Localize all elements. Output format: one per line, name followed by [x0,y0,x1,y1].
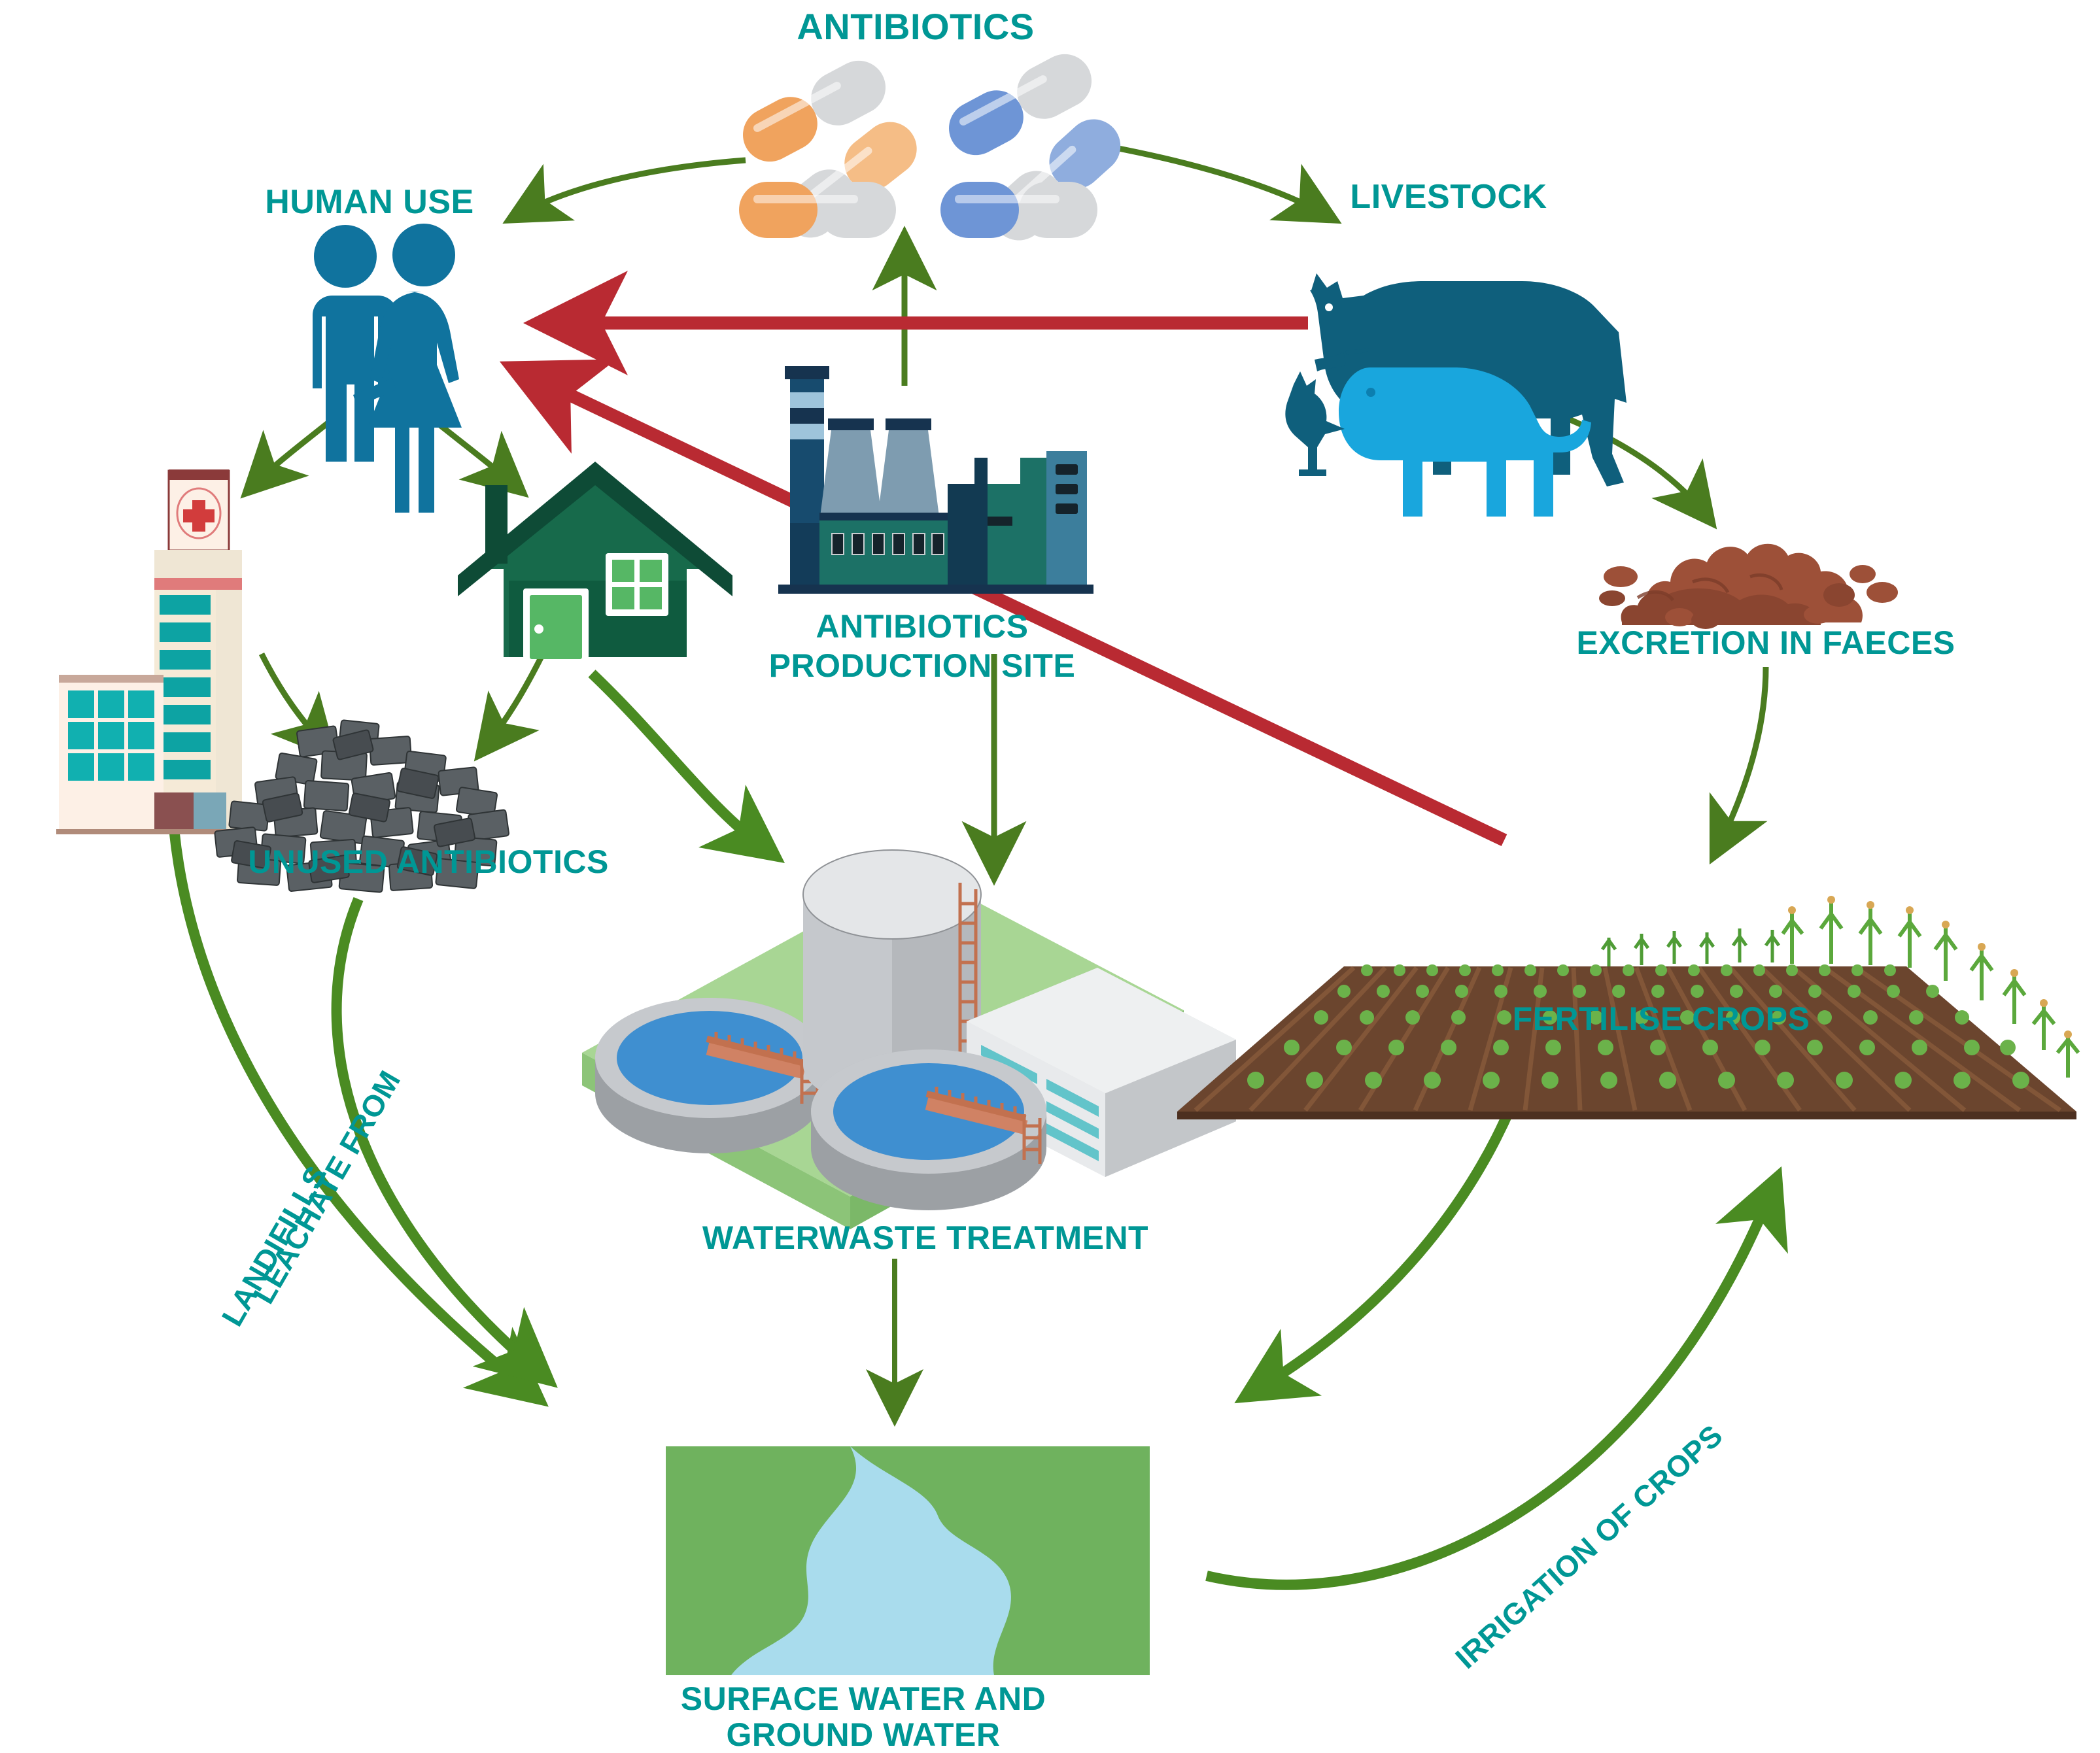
house-icon [458,462,732,659]
label-production-site-line1: ANTIBIOTICS [816,608,1029,645]
label-unused-antibiotics: UNUSED ANTIBIOTICS [248,843,609,880]
cow-pig-chicken-icon [1285,273,1627,517]
label-livestock: LIVESTOCK [1350,178,1547,216]
clarifier-tank-right [811,1049,1046,1210]
factory-icon [778,366,1093,594]
label-production-site-line2: PRODUCTION SITE [769,647,1076,684]
river-landscape-icon [666,1438,1150,1675]
label-waterwaste-treatment: WATERWASTE TREATMENT [702,1219,1148,1256]
label-fertilise-crops: FERTILISE CROPS [1513,1000,1810,1037]
label-antibiotics: ANTIBIOTICS [797,7,1034,48]
label-excretion-in-faeces: EXCRETION IN FAECES [1576,624,1955,661]
label-human-use: HUMAN USE [265,183,473,221]
clarifier-tank-left [595,998,824,1153]
label-surface-water-line2: GROUND WATER [727,1716,1001,1753]
wastewater-plant-icon [582,850,1236,1229]
label-surface-water-line1: SURFACE WATER AND [681,1680,1046,1717]
antibiotic-capsules-icon [734,44,1132,251]
people-pictogram-icon [313,224,462,513]
hospital-building-icon [56,469,246,834]
diagram-canvas: ANTIBIOTICS HUMAN USE LIVESTOCK ANTIBIOT… [0,0,2100,1753]
manure-pile-icon [1599,544,1898,629]
